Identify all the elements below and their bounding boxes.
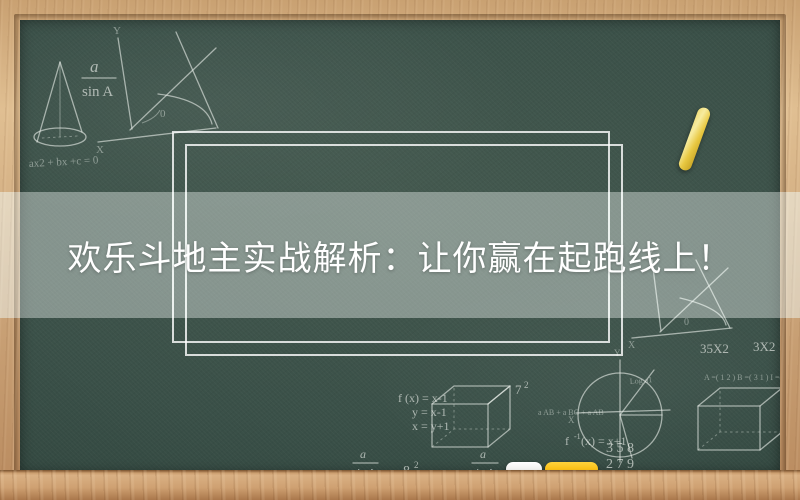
svg-text:0: 0 — [684, 317, 689, 328]
svg-text:sin A: sin A — [82, 84, 113, 100]
mult-35x2: 35X2 — [700, 341, 729, 356]
seven-squared: 7 — [515, 382, 522, 397]
svg-text:X: X — [628, 340, 636, 351]
svg-text:-1: -1 — [574, 432, 581, 441]
svg-text:X: X — [96, 144, 104, 156]
svg-text:(x) = x+1: (x) = x+1 — [581, 434, 627, 448]
cube-doodle-right — [698, 388, 780, 450]
page-title: 欢乐斗地主实战解析：让你赢在起跑线上！ — [0, 192, 800, 318]
svg-text:x = y+1: x = y+1 — [412, 419, 450, 433]
ledge-lip — [0, 470, 800, 473]
cone-doodle — [34, 62, 86, 146]
svg-text:y = x-1: y = x-1 — [412, 405, 447, 419]
svg-text:2: 2 — [524, 380, 529, 390]
function-equations-doodle: f (x) = x-1 y = x-1 x = y+1 — [398, 391, 450, 433]
svg-text:a: a — [480, 447, 486, 461]
svg-text:f (x) = x-1: f (x) = x-1 — [398, 391, 448, 405]
arithmetic-sum-doodle: 3 5 8 2 7 9 6 3 7 — [604, 441, 648, 473]
log-a1: Log a1 — [629, 375, 652, 386]
cube-doodle-center — [432, 386, 510, 447]
svg-text:a: a — [90, 57, 99, 76]
chalk-ledge — [0, 470, 800, 500]
fraction-a-sin-a-topleft: a sin A — [82, 57, 116, 100]
quadratic-equation: ax2 + bx +c = 0 — [29, 154, 100, 170]
yellow-chalk-stick-diagonal — [677, 106, 712, 172]
svg-text:2: 2 — [414, 460, 419, 470]
svg-text:a: a — [360, 447, 366, 461]
svg-text:Y: Y — [113, 25, 121, 37]
tiny-expression: a AB + a BC + a AB — [538, 408, 604, 417]
matrix-expression: A =( 1 2 ) B =( 3 1 ) I =( 1 0 ) — [704, 373, 780, 382]
circle-pie-doodle: Y X — [568, 348, 670, 462]
svg-text:0: 0 — [160, 108, 166, 120]
chalkboard-banner: a sin A ax2 + bx +c = 0 Y X 0 — [0, 0, 800, 500]
inverse-function: f — [565, 434, 569, 448]
svg-text:X: X — [568, 415, 575, 425]
mult-3x2: 3X2 — [753, 339, 775, 354]
svg-text:3 5 8: 3 5 8 — [606, 441, 634, 456]
